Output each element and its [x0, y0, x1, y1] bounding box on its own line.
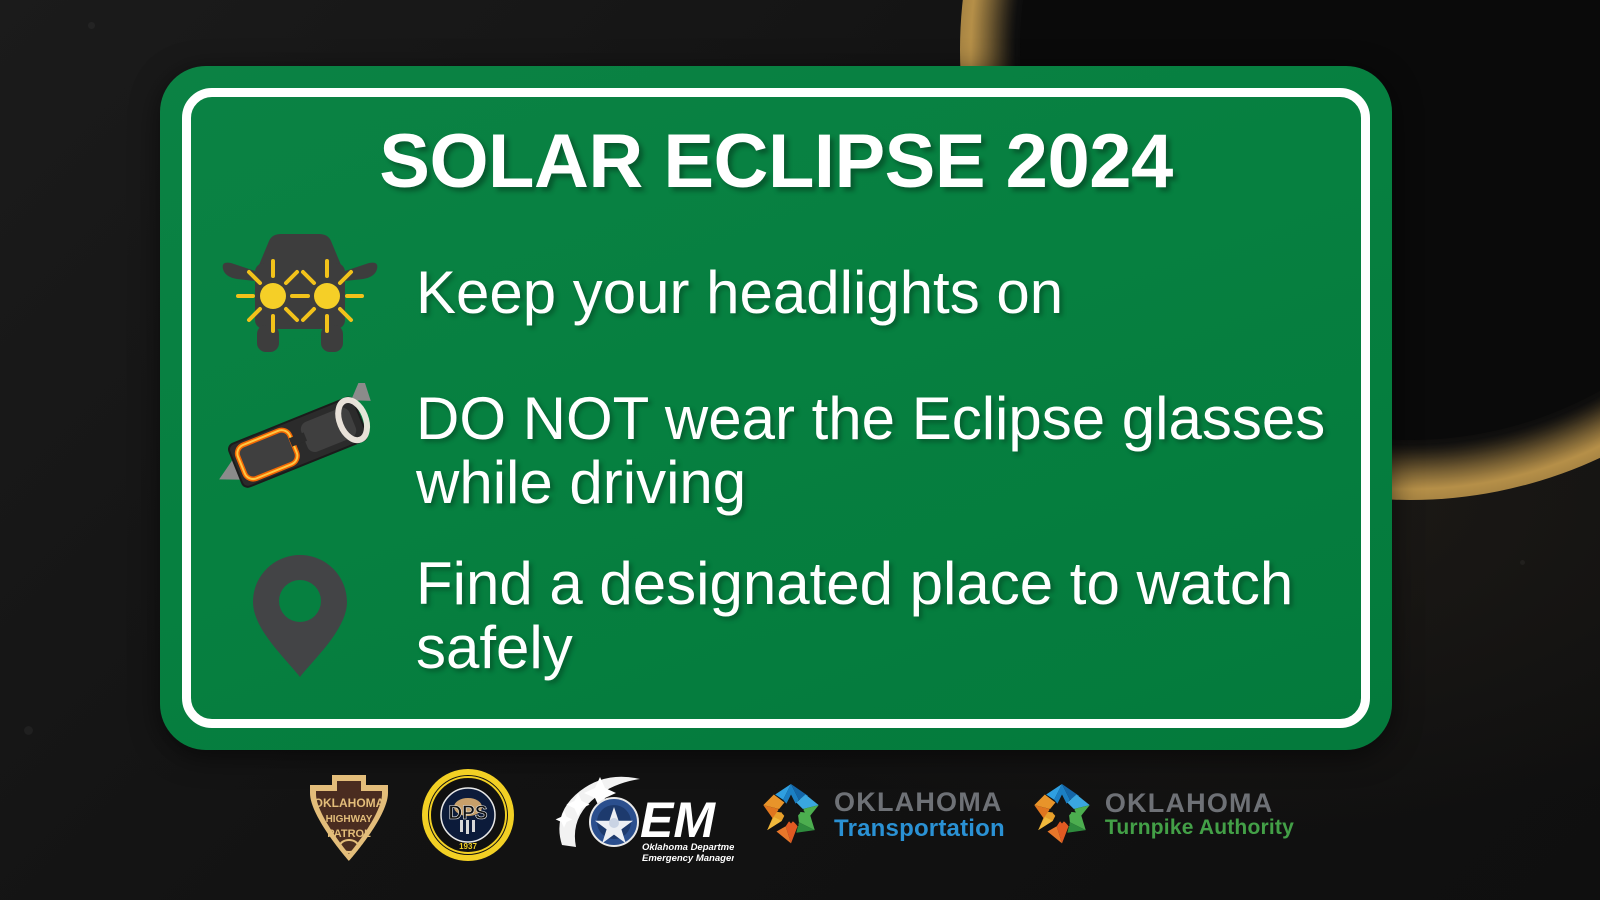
ohp-line1: OKLAHOMA	[314, 796, 385, 810]
ota-sub: Turnpike Authority	[1105, 817, 1294, 839]
logo-oklahoma-turnpike-authority: OKLAHOMA Turnpike Authority	[1029, 780, 1294, 851]
car-headlights-icon	[200, 231, 400, 355]
safety-tip-item: DO NOT wear the Eclipse glasses while dr…	[200, 368, 1352, 533]
safety-tip-item: Find a designated place to watch safely	[200, 533, 1352, 698]
oem-sub-line2: Emergency Management	[642, 853, 734, 863]
odot-sub: Transportation	[834, 816, 1005, 841]
ohp-line2: HIGHWAY	[326, 814, 373, 825]
logo-oklahoma-department-of-public-safety: DPS 1937	[416, 767, 520, 863]
eclipse-glasses-icon	[200, 383, 400, 518]
safety-tip-list: Keep your headlights on	[200, 218, 1352, 698]
oklahoma-star-burst-icon	[1029, 780, 1095, 851]
safety-tip-text: Find a designated place to watch safely	[416, 552, 1352, 679]
safety-tip-item: Keep your headlights on	[200, 218, 1352, 368]
ota-name: OKLAHOMA	[1105, 790, 1294, 817]
dps-year: 1937	[459, 842, 477, 851]
ohp-line3: PATROL	[327, 828, 371, 840]
odot-wordmark: OKLAHOMA Transportation	[834, 789, 1005, 841]
odot-name: OKLAHOMA	[834, 789, 1005, 816]
oem-mark: EM	[640, 792, 716, 848]
oklahoma-star-burst-icon	[758, 780, 824, 851]
safety-tip-text: Keep your headlights on	[416, 261, 1063, 325]
oem-sub-line1: Oklahoma Department of	[642, 842, 734, 853]
map-pin-icon	[200, 551, 400, 681]
safety-tip-text: DO NOT wear the Eclipse glasses while dr…	[416, 387, 1352, 514]
ota-wordmark: OKLAHOMA Turnpike Authority	[1105, 790, 1294, 839]
dps-center-text: DPS	[449, 803, 488, 824]
logo-oklahoma-highway-patrol: OKLAHOMA HIGHWAY PATROL	[306, 767, 392, 863]
logo-oklahoma-department-of-emergency-management: EM Oklahoma Department of Emergency Mana…	[544, 767, 734, 863]
eclipse-safety-graphic: SOLAR ECLIPSE 2024	[0, 0, 1600, 900]
page-title: SOLAR ECLIPSE 2024	[200, 124, 1352, 200]
agency-logo-strip: OKLAHOMA HIGHWAY PATROL	[0, 760, 1600, 870]
highway-sign-panel: SOLAR ECLIPSE 2024	[160, 66, 1392, 750]
logo-oklahoma-transportation: OKLAHOMA Transportation	[758, 780, 1005, 851]
